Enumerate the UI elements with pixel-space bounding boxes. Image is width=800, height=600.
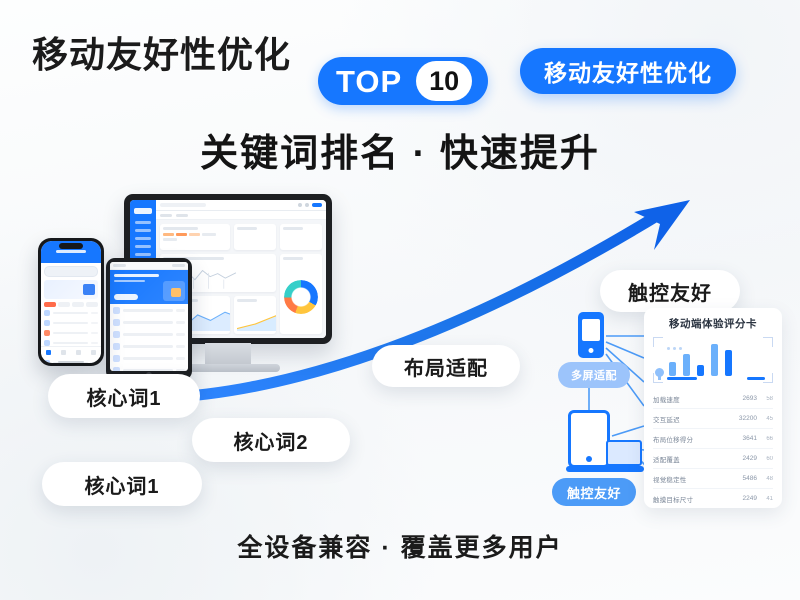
keyword-pill-1: 核心词1 bbox=[48, 374, 200, 418]
card-title-bar bbox=[237, 299, 257, 302]
scorecard-chart bbox=[653, 337, 773, 383]
status-right bbox=[172, 264, 185, 267]
chart-baseline bbox=[747, 377, 765, 380]
poster-canvas: 移动友好性优化 TOP 10 移动友好性优化 关键词排名 · 快速提升 bbox=[0, 0, 800, 600]
table-row: 适配覆盖 2429 60 bbox=[653, 448, 773, 468]
chart-bars bbox=[669, 340, 763, 376]
row-value-1: 3641 bbox=[733, 435, 757, 442]
scorecard-title: 移动端体验评分卡 bbox=[653, 316, 773, 331]
top-badge-word: TOP bbox=[336, 66, 416, 97]
breadcrumb-item bbox=[160, 214, 172, 217]
topbar-icon bbox=[298, 203, 302, 207]
sidebar-menu-item bbox=[135, 229, 151, 232]
list-item bbox=[113, 307, 185, 314]
tag-multi-screen: 多屏适配 bbox=[558, 362, 630, 388]
card-title-bar bbox=[237, 227, 257, 230]
row-value-1: 5486 bbox=[733, 475, 757, 482]
row-value-1: 2693 bbox=[733, 395, 757, 402]
table-row: 触摸目标尺寸 2249 41 bbox=[653, 488, 773, 508]
keyword-pill-2: 核心词2 bbox=[192, 418, 350, 462]
nav-icon-message[interactable] bbox=[76, 350, 81, 355]
table-row: 加载速度 2693 58 bbox=[653, 389, 773, 408]
tablet-statusbar bbox=[110, 262, 188, 270]
scorecard-rows: 加载速度 2693 58 交互延迟 32200 45 布局位移得分 3641 6… bbox=[653, 389, 773, 508]
row-value-2: 45 bbox=[757, 416, 773, 422]
dashboard-card-stat-a bbox=[234, 224, 276, 250]
topbar-avatar bbox=[312, 203, 322, 207]
phone-tab[interactable] bbox=[86, 302, 98, 307]
row-name: 触摸目标尺寸 bbox=[653, 494, 733, 504]
list-item bbox=[44, 320, 98, 326]
chart-bar bbox=[669, 362, 676, 376]
sidebar-menu-item bbox=[135, 237, 151, 240]
row-name: 适配覆盖 bbox=[653, 454, 733, 464]
list-item bbox=[44, 330, 98, 336]
area-chart bbox=[237, 304, 276, 331]
mobile-experience-scorecard: 移动端体验评分卡 bbox=[644, 308, 782, 508]
nav-icon-home[interactable] bbox=[46, 350, 51, 355]
monitor-stand bbox=[205, 343, 251, 365]
hero-headline-bar bbox=[114, 274, 159, 277]
dashboard-card-area-b bbox=[234, 296, 276, 334]
row-value-2: 48 bbox=[757, 476, 773, 482]
row-value-1: 2429 bbox=[733, 455, 757, 462]
phone-tab[interactable] bbox=[44, 302, 56, 307]
feature-pill-layout: 布局适配 bbox=[372, 345, 520, 387]
appbar-title-bar bbox=[56, 250, 86, 253]
hero-cta-button[interactable] bbox=[114, 294, 138, 300]
row-value-2: 41 bbox=[757, 496, 773, 502]
row-name: 布局位移得分 bbox=[653, 434, 733, 444]
sidebar-menu-item bbox=[135, 221, 151, 224]
breadcrumb-item bbox=[176, 214, 188, 217]
keyword-pill-3: 核心词1 bbox=[42, 462, 202, 506]
header-blue-pill: 移动友好性优化 bbox=[520, 48, 736, 94]
page-subtitle: 关键词排名 · 快速提升 bbox=[0, 122, 800, 177]
frame-corner bbox=[653, 337, 663, 347]
card-title-bar bbox=[283, 257, 303, 260]
row-value-2: 58 bbox=[757, 396, 773, 402]
frame-corner bbox=[763, 337, 773, 347]
chart-bulb-icon bbox=[655, 368, 664, 377]
sidebar-menu-item bbox=[135, 253, 151, 256]
tablet-hero-banner bbox=[110, 270, 188, 304]
phone-banner bbox=[44, 280, 98, 299]
topbar-icon bbox=[305, 203, 309, 207]
table-row: 交互延迟 32200 45 bbox=[653, 408, 773, 428]
list-item bbox=[113, 331, 185, 338]
dashboard-logo bbox=[134, 208, 152, 214]
device-compatibility-diagram: 多屏适配 触控友好 移动端体验评分卡 bbox=[548, 300, 792, 520]
dashboard-topbar bbox=[156, 200, 326, 211]
list-item bbox=[113, 367, 185, 371]
tag-chip bbox=[189, 233, 200, 236]
table-row: 布局位移得分 3641 66 bbox=[653, 428, 773, 448]
list-item bbox=[44, 310, 98, 316]
chart-baseline bbox=[667, 377, 697, 380]
list-item bbox=[113, 319, 185, 326]
topbar-search bbox=[160, 203, 206, 207]
laptop-base bbox=[566, 466, 644, 472]
chart-bar bbox=[697, 365, 704, 376]
phone-icon-screen bbox=[582, 319, 600, 341]
card-title-bar bbox=[163, 227, 198, 230]
hero-illustration bbox=[163, 281, 185, 301]
status-left bbox=[113, 264, 126, 267]
card-title-bar bbox=[283, 227, 303, 230]
footer-tagline: 全设备兼容 · 覆盖更多用户 bbox=[0, 528, 800, 564]
phone-mockup bbox=[38, 238, 104, 366]
tablet-device-icon bbox=[568, 410, 610, 468]
chart-bar bbox=[683, 354, 690, 376]
row-value-1: 32200 bbox=[733, 415, 757, 422]
row-name: 交互延迟 bbox=[653, 414, 733, 424]
phone-icon-home bbox=[589, 348, 594, 353]
tag-chip bbox=[163, 233, 174, 236]
phone-screen bbox=[41, 241, 101, 363]
row-value-2: 66 bbox=[757, 436, 773, 442]
laptop-device-icon bbox=[606, 440, 642, 466]
hero-subline-bar bbox=[114, 280, 145, 282]
tablet-mockup bbox=[106, 258, 192, 380]
chart-bar bbox=[711, 344, 718, 376]
phone-tab-row[interactable] bbox=[41, 302, 101, 310]
dashboard-card-donut bbox=[280, 254, 322, 334]
tablet-icon-home bbox=[586, 456, 592, 462]
top-badge-number: 10 bbox=[416, 61, 472, 101]
dashboard-card-stat-b bbox=[280, 224, 322, 250]
tag-chip bbox=[176, 233, 187, 236]
tag-chip bbox=[202, 233, 216, 236]
row-name: 视觉稳定性 bbox=[653, 474, 733, 484]
donut-chart bbox=[284, 280, 318, 314]
row-value-2: 60 bbox=[757, 456, 773, 462]
phone-tab[interactable] bbox=[58, 302, 70, 307]
list-item bbox=[113, 355, 185, 362]
device-mockups bbox=[28, 190, 348, 400]
tablet-list bbox=[110, 304, 188, 371]
phone-home-indicator bbox=[58, 361, 84, 363]
phone-tab[interactable] bbox=[72, 302, 84, 307]
card-tag-row bbox=[163, 233, 227, 241]
tablet-screen bbox=[110, 262, 188, 371]
dashboard-breadcrumb bbox=[156, 211, 326, 220]
page-title: 移动友好性优化 bbox=[32, 26, 291, 78]
phone-device-icon bbox=[578, 312, 604, 358]
phone-bottom-nav[interactable] bbox=[41, 346, 101, 357]
top-rank-badge: TOP 10 bbox=[318, 57, 488, 105]
nav-icon-profile[interactable] bbox=[91, 350, 96, 355]
phone-notch bbox=[59, 243, 83, 249]
table-row: 视觉稳定性 5486 48 bbox=[653, 468, 773, 488]
row-value-1: 2249 bbox=[733, 495, 757, 502]
tag-touch-friendly: 触控友好 bbox=[552, 478, 636, 506]
tag-chip bbox=[163, 238, 177, 241]
row-name: 加载速度 bbox=[653, 394, 733, 404]
sidebar-menu-item bbox=[135, 245, 151, 248]
nav-icon-list[interactable] bbox=[61, 350, 66, 355]
list-item bbox=[113, 343, 185, 350]
chart-bar bbox=[725, 350, 732, 376]
dashboard-card-filters bbox=[160, 224, 230, 250]
phone-search-box[interactable] bbox=[44, 266, 98, 277]
